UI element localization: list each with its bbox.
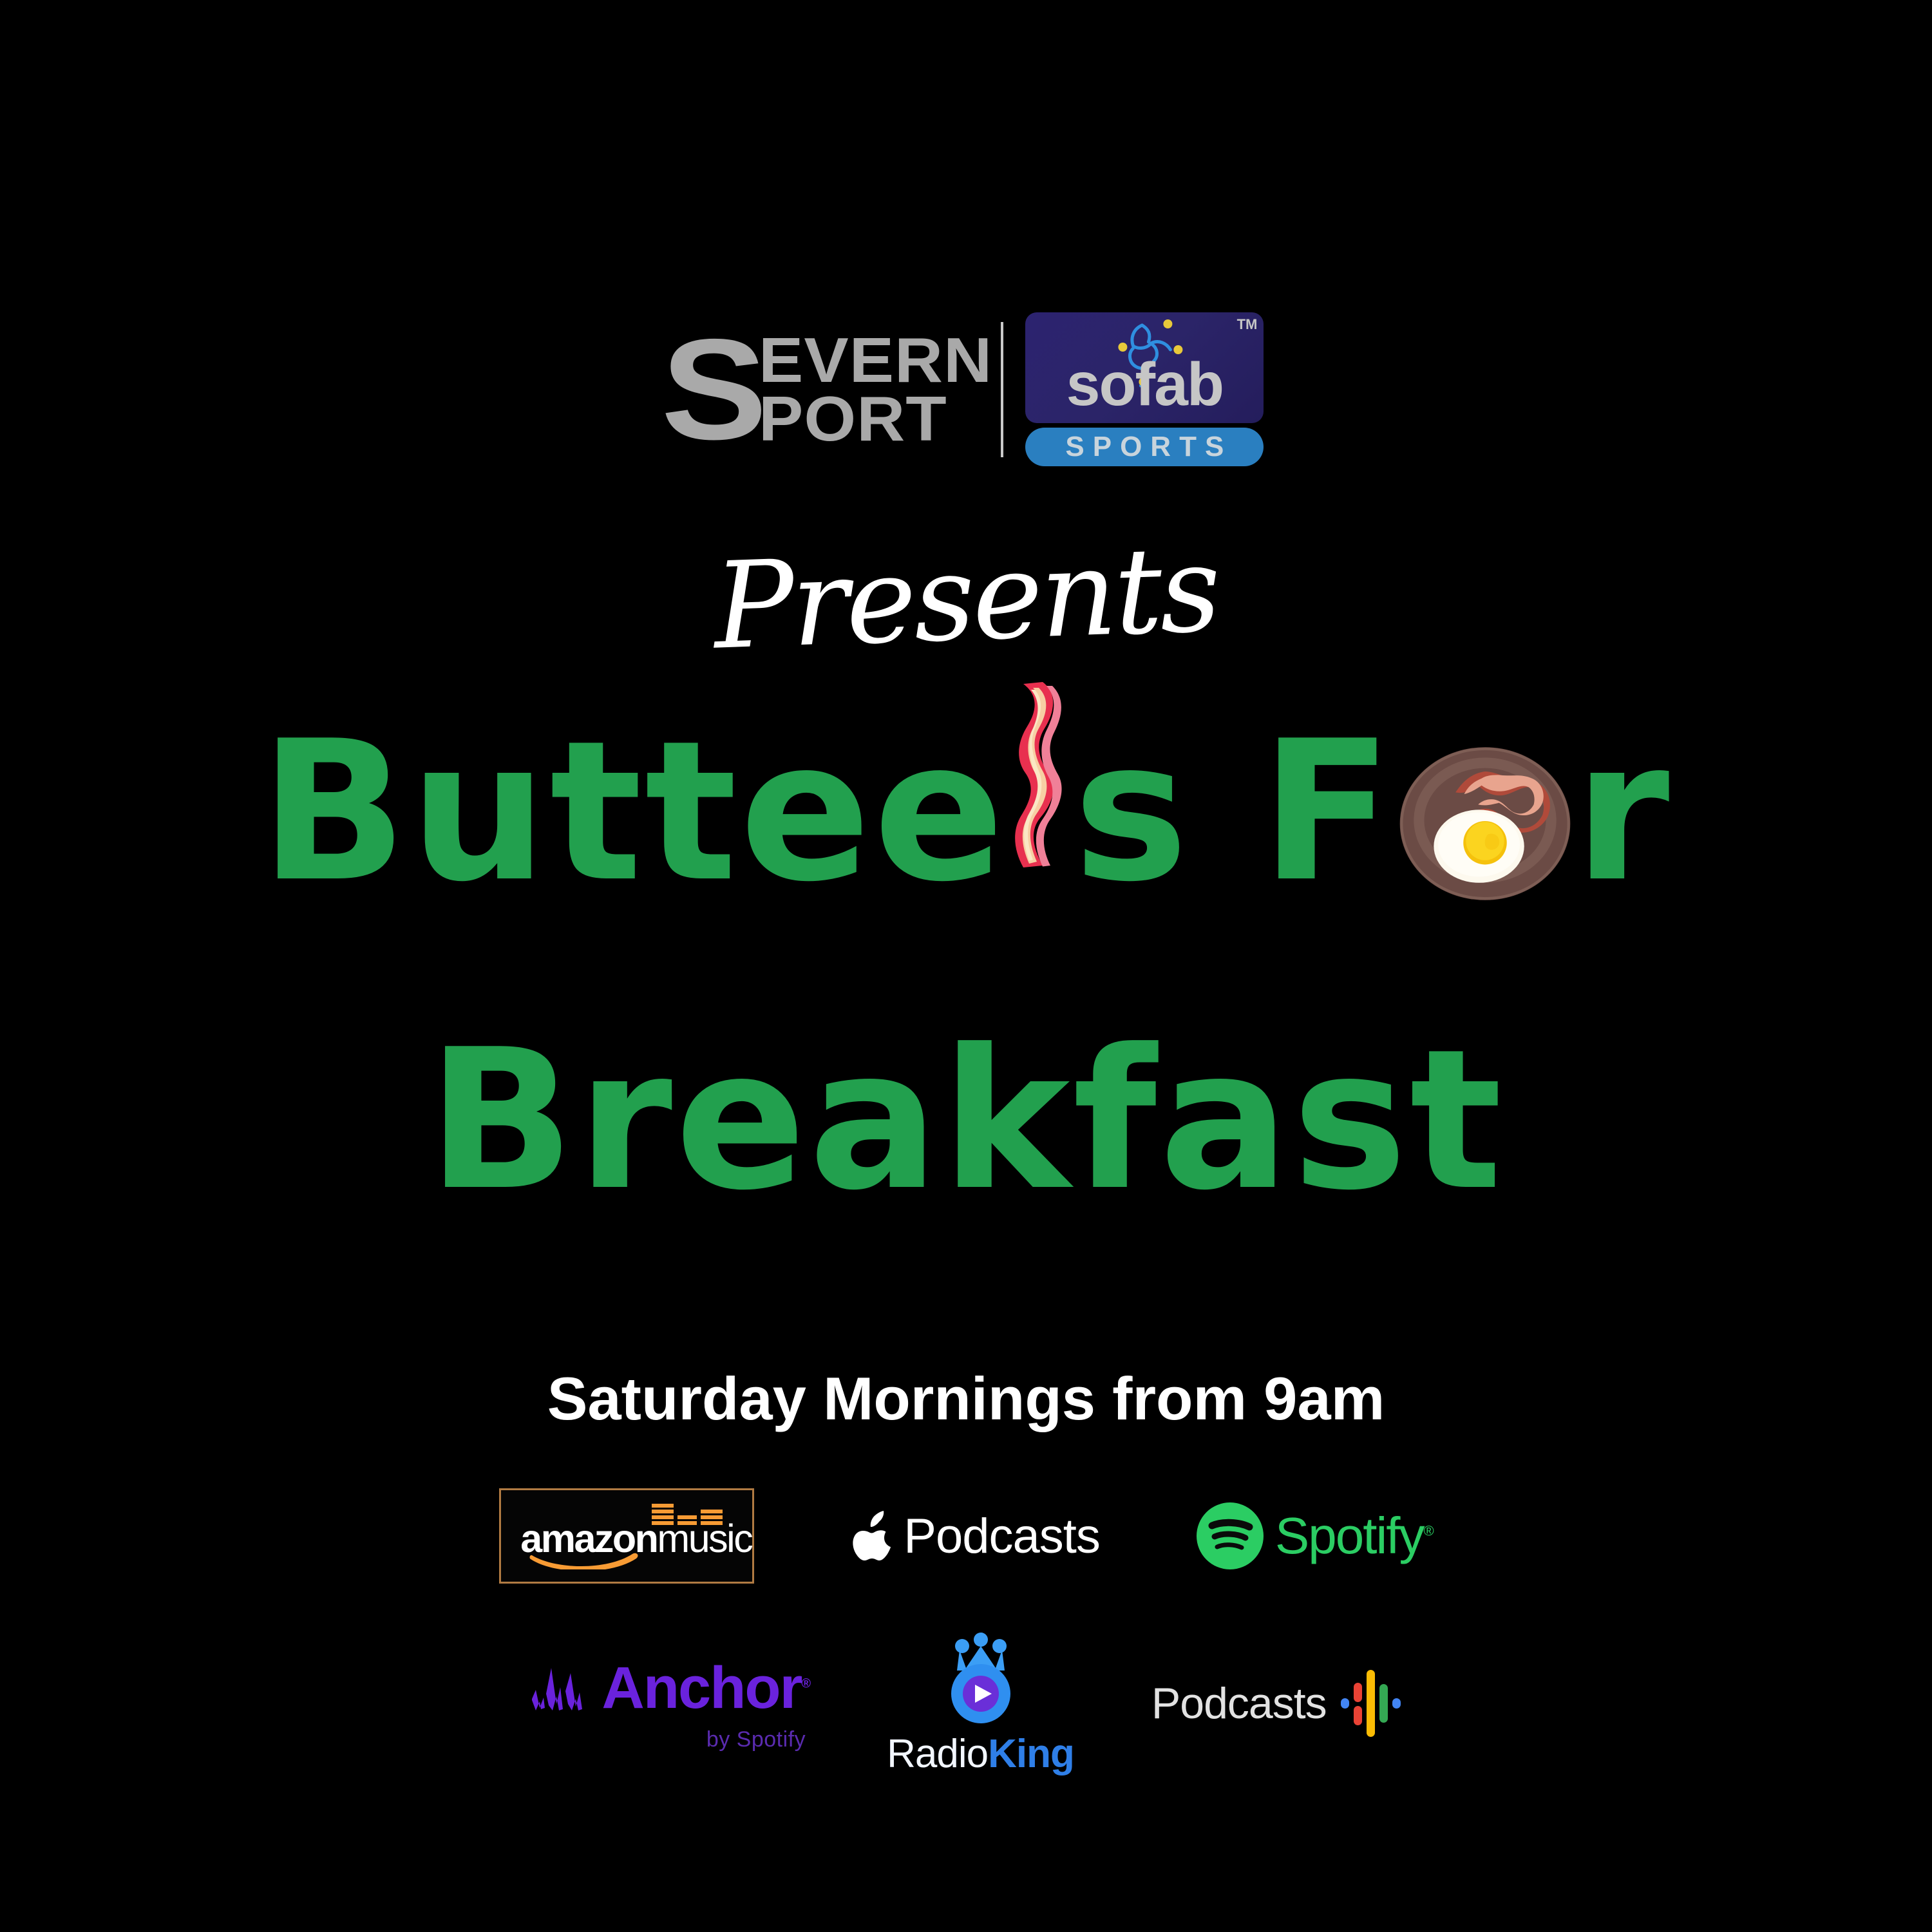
title-line-2: Breakfast — [0, 1024, 1932, 1217]
bacon-emoji — [1010, 678, 1077, 871]
severn-sport-wordmark: EVERN PORT — [759, 331, 980, 447]
anchor-label: Anchor® — [601, 1654, 810, 1722]
spotify-circle-icon — [1197, 1502, 1264, 1569]
severn-sport-line-1: EVERN — [759, 331, 992, 389]
schedule-text: Saturday Mornings from 9am — [0, 1364, 1932, 1434]
spotify-registered-symbol: ® — [1423, 1522, 1432, 1539]
platform-row-2: Anchor® by Spotify RadioKing — [0, 1623, 1932, 1784]
amazon-music-equalizer-icon — [650, 1502, 728, 1528]
sofab-trademark-symbol: TM — [1237, 316, 1258, 333]
google-podcasts-label: Podcasts — [1151, 1678, 1327, 1728]
sofab-sports-pill: SPORTS — [1025, 428, 1264, 466]
apple-podcasts-label: Podcasts — [904, 1508, 1100, 1564]
radioking-label-radio: Radio — [887, 1732, 988, 1776]
platform-spotify[interactable]: Spotify® — [1197, 1502, 1433, 1569]
title-word-r: r — [1575, 715, 1672, 909]
title-line-1: Buttee s F r — [0, 702, 1932, 909]
platform-google-podcasts[interactable]: Podcasts — [1151, 1670, 1401, 1737]
platform-anchor[interactable]: Anchor® by Spotify — [531, 1654, 810, 1752]
radioking-label: RadioKing — [887, 1731, 1074, 1777]
sofab-plate: sofab TM — [1025, 312, 1264, 423]
severn-sport-line-2: PORT — [759, 390, 992, 448]
anchor-registered-symbol: ® — [801, 1676, 810, 1690]
sofab-wordmark: sofab — [1025, 354, 1264, 415]
sofab-sports-label: SPORTS — [1057, 431, 1232, 463]
platform-apple-podcasts[interactable]: Podcasts — [851, 1508, 1100, 1564]
severn-sport-s-monogram: S — [661, 334, 759, 446]
google-podcasts-waveform-icon — [1341, 1670, 1401, 1737]
radioking-crown-disc-icon — [933, 1631, 1029, 1727]
poster-canvas: S EVERN PORT — [0, 0, 1932, 1932]
severn-sport-logo: S EVERN PORT — [668, 331, 980, 447]
apple-logo-icon — [851, 1511, 893, 1561]
sofab-sports-logo: sofab TM SPORTS — [1025, 312, 1264, 466]
amazon-music-badge[interactable]: amazonmusic — [499, 1488, 754, 1584]
anchor-sublabel: by Spotify — [706, 1727, 806, 1752]
spotify-wordmark: Spotify — [1275, 1507, 1424, 1564]
radioking-label-king: King — [988, 1732, 1074, 1776]
platform-amazon-music[interactable]: amazonmusic — [499, 1488, 754, 1584]
platform-row-1: amazonmusic — [0, 1468, 1932, 1604]
title-word-buttee: Buttee — [260, 715, 1007, 909]
platform-radioking[interactable]: RadioKing — [887, 1631, 1074, 1777]
anchor-waveform-icon — [531, 1665, 592, 1712]
brand-logo-row: S EVERN PORT — [0, 312, 1932, 466]
anchor-wordmark: Anchor — [601, 1655, 801, 1721]
amazon-smile-icon — [529, 1550, 642, 1569]
platform-logo-grid: amazonmusic — [0, 1468, 1932, 1784]
spotify-label: Spotify® — [1275, 1506, 1433, 1566]
title-word-s-for: s F — [1074, 715, 1396, 909]
breakfast-plate-emoji — [1398, 737, 1572, 911]
brand-divider — [1001, 322, 1003, 457]
presents-label: Presents — [0, 495, 1932, 701]
